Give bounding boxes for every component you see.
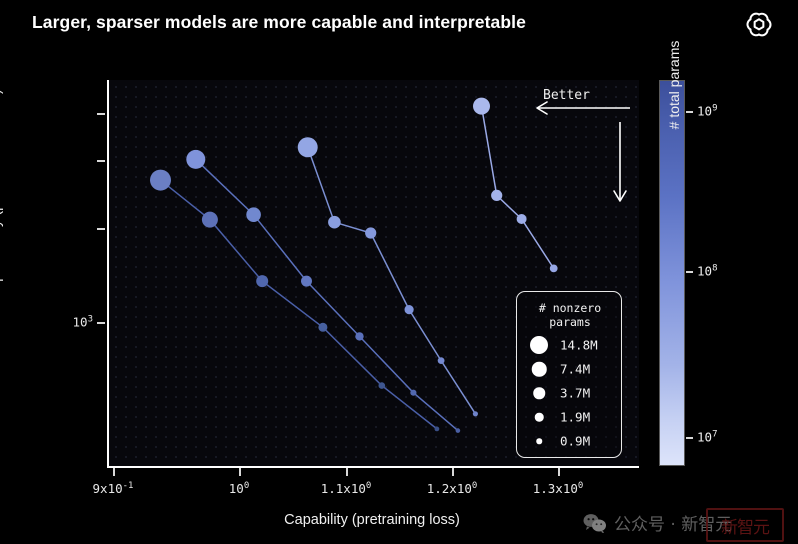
data-point[interactable] (435, 427, 440, 432)
x-tick-mark (113, 468, 115, 476)
legend-label: 3.7M (560, 386, 590, 401)
data-point[interactable] (150, 170, 171, 191)
x-tick-label: 100 (229, 481, 249, 496)
data-point[interactable] (473, 98, 490, 115)
colorbar-tick-mark (686, 437, 693, 439)
data-point[interactable] (410, 390, 416, 396)
x-tick-mark (452, 468, 454, 476)
x-tick-mark (239, 468, 241, 476)
x-tick-mark (346, 468, 348, 476)
colorbar-tick-label: 107 (697, 429, 717, 444)
x-tick-label: 9x10-1 (93, 481, 134, 496)
colorbar-label: # total params (666, 0, 682, 200)
data-point[interactable] (550, 265, 558, 273)
data-point[interactable] (328, 216, 341, 229)
data-point[interactable] (517, 214, 527, 224)
x-tick-label: 1.1x100 (321, 481, 372, 496)
colorbar-tick-label: 108 (697, 263, 717, 278)
x-tick-label: 1.3x100 (533, 481, 584, 496)
data-point[interactable] (365, 227, 376, 238)
legend-label: 7.4M (560, 362, 590, 377)
wechat-icon (583, 513, 607, 533)
data-point[interactable] (491, 190, 502, 201)
legend-item: 1.9M (517, 406, 623, 428)
y-axis-label: Interpretability (pruned circuit size) (0, 0, 4, 410)
legend-item: 0.9M (517, 430, 623, 452)
x-axis-label: Capability (pretraining loss) (107, 512, 637, 528)
legend-label: 1.9M (560, 410, 590, 425)
scatter-chart: Interpretability (pruned circuit size) 1… (0, 0, 798, 544)
legend-marker (536, 438, 542, 444)
legend-label: 14.8M (560, 338, 598, 353)
legend-marker (535, 413, 544, 422)
legend-item: 7.4M (517, 358, 623, 380)
size-legend-title-line1: # nonzero (517, 301, 623, 315)
y-tick-mark (97, 160, 105, 162)
data-point[interactable] (438, 357, 445, 364)
y-tick-mark (97, 228, 105, 230)
data-point[interactable] (256, 275, 268, 287)
y-tick-label: 103 (55, 314, 93, 329)
figure-root: Larger, sparser models are more capable … (0, 0, 798, 544)
y-tick-mark (97, 322, 105, 324)
data-point[interactable] (456, 428, 461, 433)
data-point[interactable] (355, 332, 363, 340)
legend-marker (533, 387, 545, 399)
y-tick-mark (97, 113, 105, 115)
legend-item: 3.7M (517, 382, 623, 404)
data-point[interactable] (298, 137, 318, 157)
x-tick-mark (558, 468, 560, 476)
data-point[interactable] (186, 150, 205, 169)
colorbar-tick-label: 109 (697, 103, 717, 118)
series-line (161, 180, 437, 429)
data-point[interactable] (246, 207, 261, 222)
size-legend-title-line2: params (517, 315, 623, 329)
data-point[interactable] (202, 212, 218, 228)
legend-label: 0.9M (560, 434, 590, 449)
data-point[interactable] (405, 305, 414, 314)
legend-item: 14.8M (517, 334, 623, 356)
colorbar-tick-mark (686, 111, 693, 113)
better-arrows (520, 100, 640, 210)
data-point[interactable] (473, 411, 478, 416)
watermark-stamp: 新智元 (706, 508, 784, 542)
legend-marker (530, 336, 548, 354)
x-tick-label: 1.2x100 (427, 481, 478, 496)
data-point[interactable] (301, 276, 312, 287)
data-point[interactable] (379, 382, 386, 389)
size-legend: # nonzero params 14.8M 7.4M 3.7M 1.9M (516, 291, 622, 458)
data-point[interactable] (318, 323, 327, 332)
size-legend-title: # nonzero params (517, 301, 623, 329)
series-line (308, 147, 476, 414)
colorbar-tick-mark (686, 271, 693, 273)
legend-marker (532, 362, 547, 377)
